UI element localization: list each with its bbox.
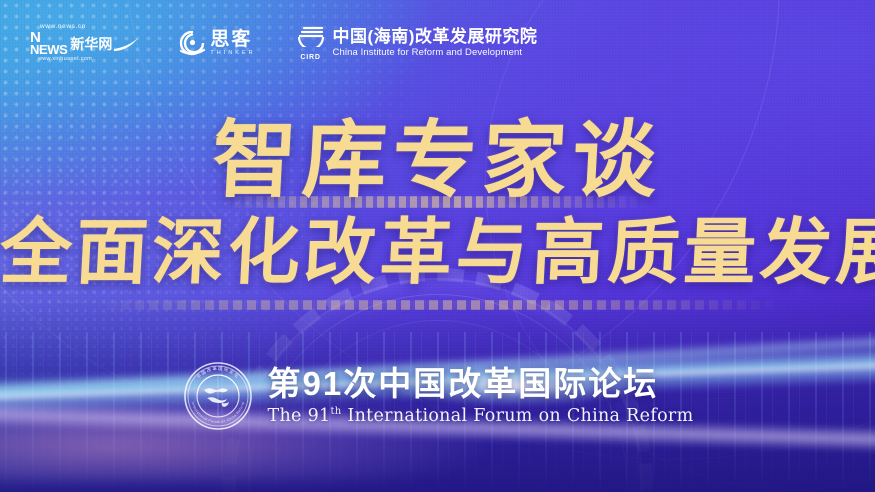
- forum-en-suffix: International Forum on China Reform: [342, 406, 694, 426]
- cird-mark-group: CIRD: [296, 25, 326, 61]
- sike-wordmark: 思客 THINKER: [210, 30, 255, 57]
- sike-spiral-icon: [179, 30, 205, 56]
- main-title-block: 智库专家谈 全面深化改革与高质量发展: [0, 118, 875, 288]
- logo-xinhua-news[interactable]: www.news.cn N NEWS 新华网 www.xinhuanet.com: [30, 24, 139, 62]
- forum-en-ordinal-suffix: th: [330, 406, 341, 417]
- cird-bowl-icon: [296, 25, 326, 52]
- forum-seal-emblem-icon: 中国改革国际论坛 International Forum on China Re…: [182, 360, 254, 432]
- poster-canvas: www.news.cn N NEWS 新华网 www.xinhuanet.com: [0, 0, 875, 492]
- xinhua-wordmark: N NEWS 新华网: [30, 32, 139, 56]
- header-logo-row: www.news.cn N NEWS 新华网 www.xinhuanet.com: [30, 24, 537, 62]
- sike-chinese-name: 思客: [210, 30, 255, 49]
- logo-sike-thinker[interactable]: 思客 THINKER: [179, 30, 255, 57]
- forum-title-chinese: 第91次中国改革国际论坛: [268, 367, 694, 400]
- xinhua-latin-letters: N NEWS: [30, 32, 67, 56]
- sike-english-name: THINKER: [210, 51, 255, 57]
- xinhua-letter-news: NEWS: [30, 44, 67, 55]
- cird-wordmark: 中国(海南)改革发展研究院 China Institute for Reform…: [333, 28, 538, 58]
- forum-text-block: 第91次中国改革国际论坛 The 91th International Foru…: [268, 367, 694, 425]
- cird-chinese-name: 中国(海南)改革发展研究院: [333, 28, 538, 46]
- logo-cird[interactable]: CIRD 中国(海南)改革发展研究院 China Institute for R…: [296, 25, 538, 61]
- cird-english-name: China Institute for Reform and Developme…: [333, 48, 538, 58]
- forum-lockup: 中国改革国际论坛 International Forum on China Re…: [0, 360, 875, 432]
- xinhua-chinese-name: 新华网: [70, 37, 112, 51]
- xinhua-url-top: www.news.cn: [40, 24, 86, 31]
- xinhua-url-bottom: www.xinhuanet.com: [38, 57, 92, 63]
- forum-title-english: The 91th International Forum on China Re…: [268, 407, 694, 425]
- title-line-1: 智库专家谈: [0, 118, 875, 202]
- title-line-2: 全面深化改革与高质量发展: [0, 216, 875, 288]
- cird-abbreviation: CIRD: [300, 54, 320, 61]
- forum-en-prefix: The 91: [268, 406, 331, 426]
- xinhua-swoosh-icon: [113, 36, 139, 52]
